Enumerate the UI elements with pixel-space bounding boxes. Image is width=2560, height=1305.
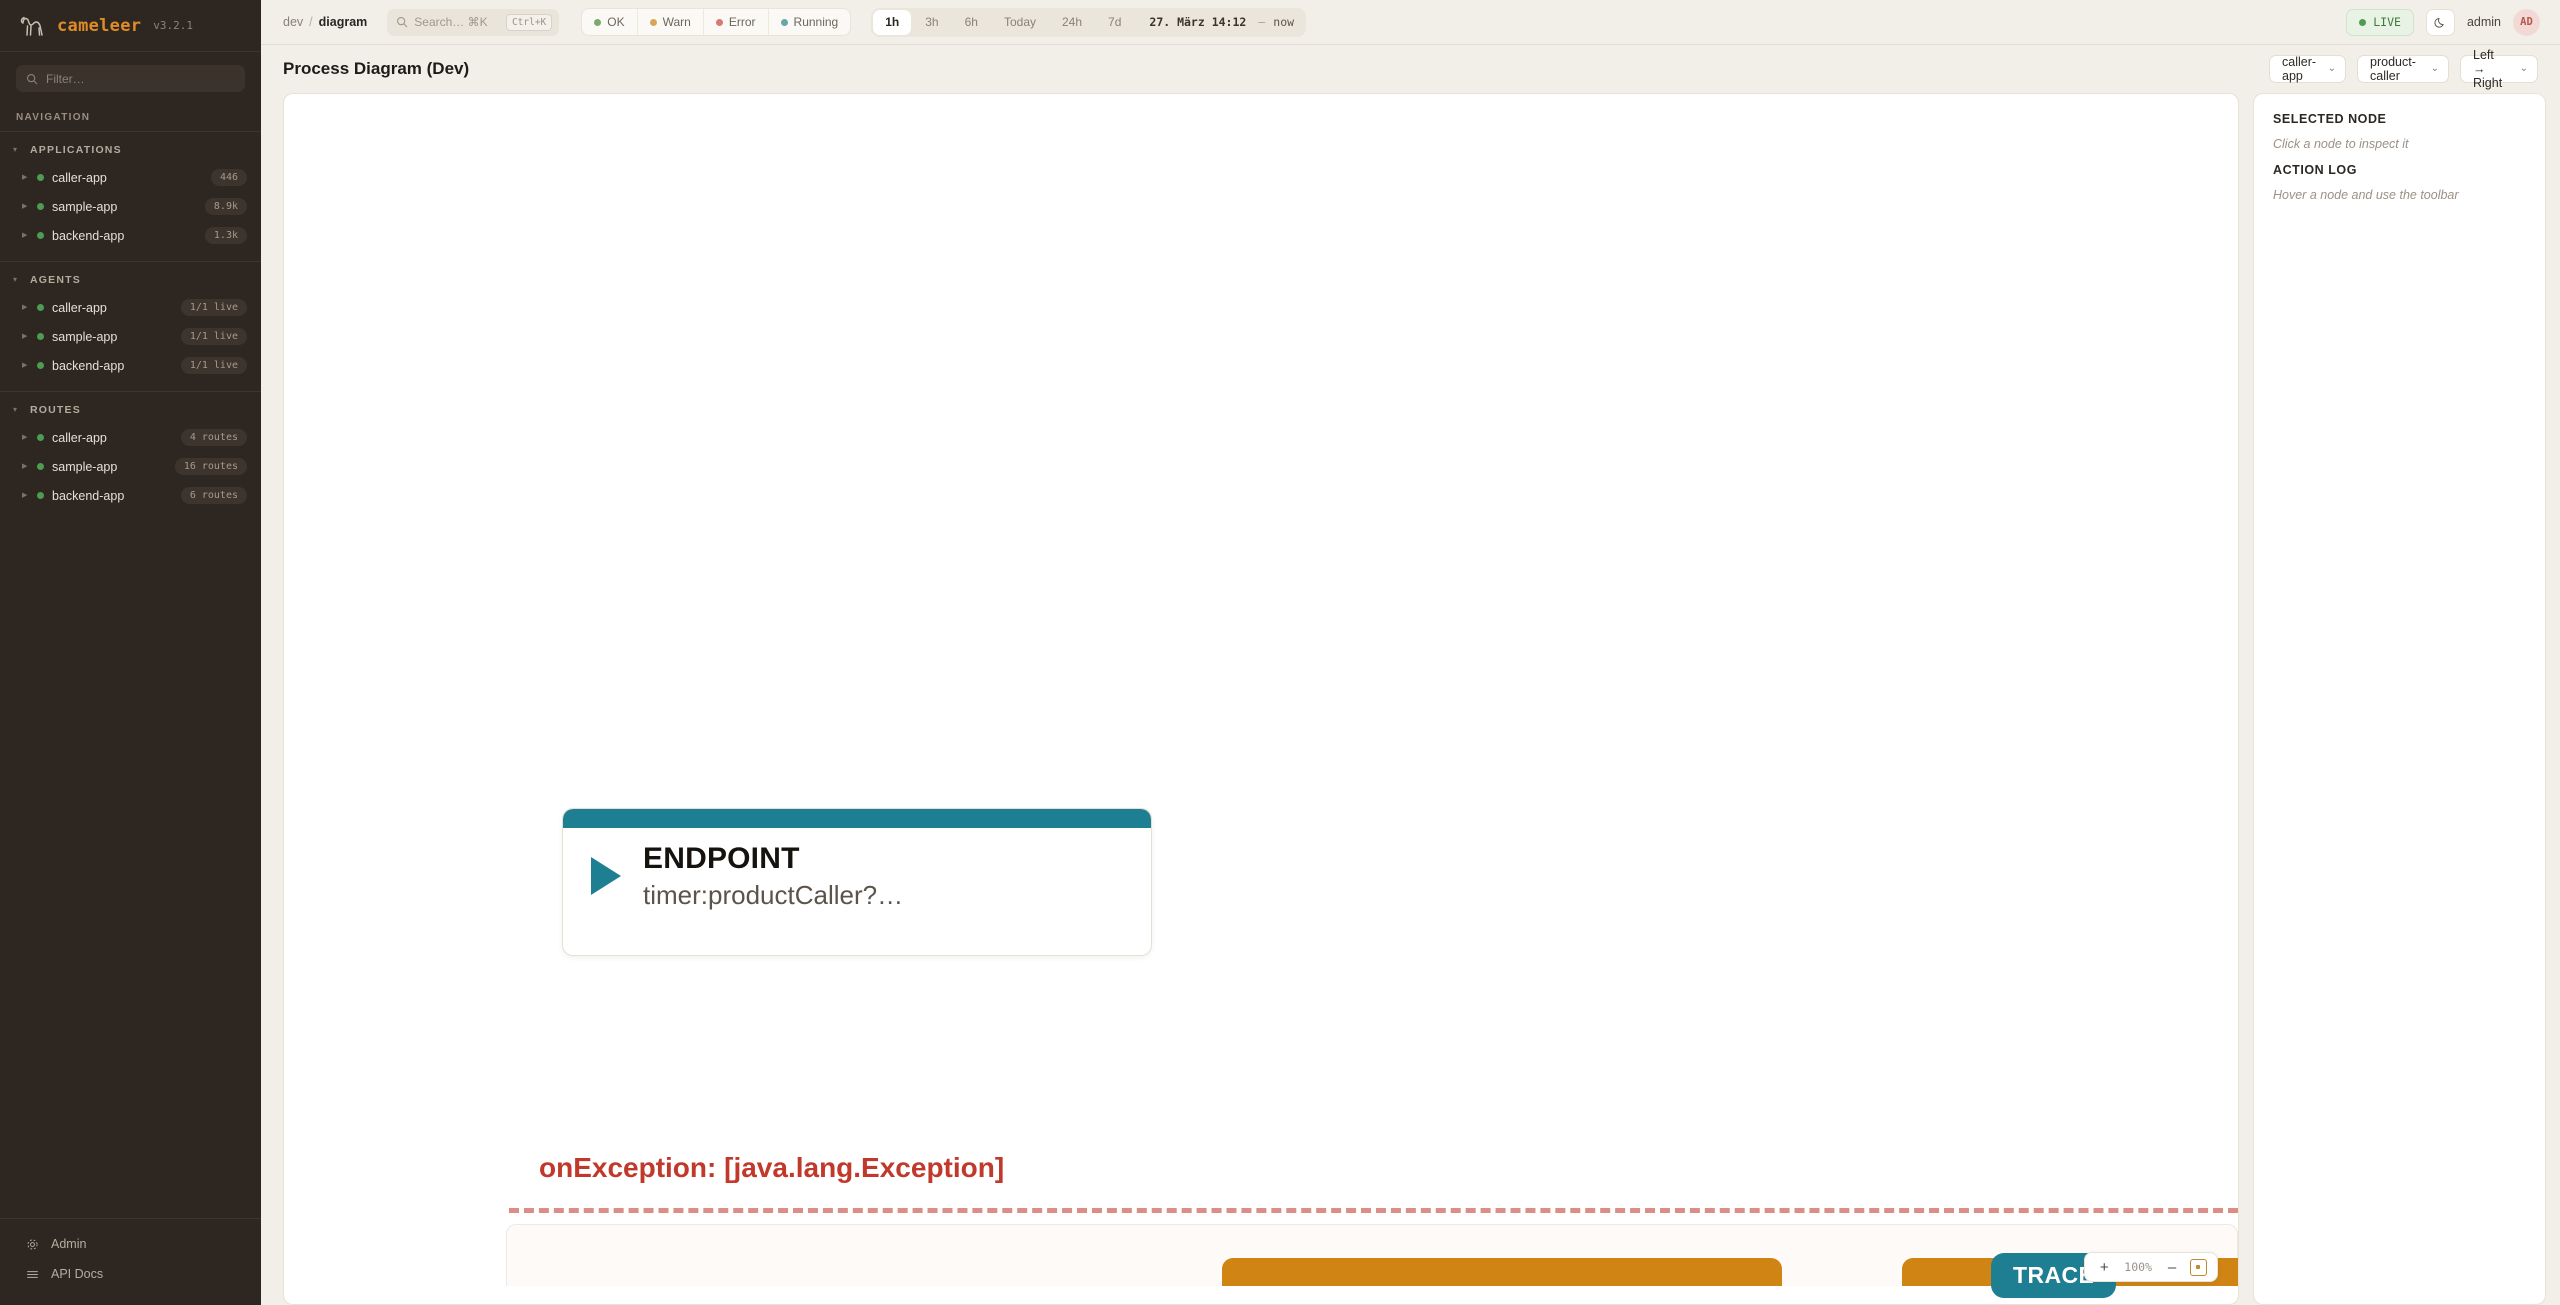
brand-version: v3.2.1 — [153, 19, 193, 32]
filter-section — [0, 52, 261, 102]
status-filter-label: Running — [794, 15, 839, 29]
sidebar-item-label: backend-app — [52, 229, 197, 243]
sidebar: cameleer v3.2.1 NAVIGATION ▾ APPLICATION… — [0, 0, 261, 1305]
gear-icon — [26, 1238, 39, 1251]
status-dot — [37, 463, 44, 470]
status-dot — [37, 174, 44, 181]
sidebar-footer-api-docs[interactable]: API Docs — [0, 1259, 261, 1289]
status-filter-warn[interactable]: Warn — [638, 9, 704, 35]
theme-toggle-button[interactable] — [2426, 9, 2455, 36]
chevron-right-icon: ▶ — [22, 333, 29, 340]
action-log-title: ACTION LOG — [2273, 163, 2526, 177]
breadcrumb-current: diagram — [319, 15, 368, 29]
status-dot — [781, 19, 788, 26]
sidebar-footer-label: API Docs — [51, 1267, 103, 1281]
fit-view-icon — [2190, 1259, 2207, 1276]
diagram-node-endpoint[interactable]: ENDPOINT timer:productCaller?… — [562, 808, 1152, 956]
group-label: AGENTS — [30, 274, 81, 286]
content-area: ENDPOINT timer:productCaller?… onExcepti… — [261, 93, 2560, 1305]
sidebar-item-label: sample-app — [52, 460, 167, 474]
chevron-right-icon: ▶ — [22, 492, 29, 499]
selected-node-hint: Click a node to inspect it — [2273, 137, 2526, 151]
zoom-level-label: 100% — [2117, 1260, 2159, 1274]
chevron-down-icon: ⌄ — [2520, 64, 2528, 74]
route-select-value: product-caller — [2370, 55, 2421, 83]
status-filter-label: OK — [607, 15, 624, 29]
chevron-right-icon: ▶ — [22, 304, 29, 311]
node-text: ENDPOINT timer:productCaller?… — [643, 842, 903, 911]
time-range-to[interactable]: now — [1273, 15, 1304, 29]
zoom-in-button[interactable]: + — [2091, 1254, 2117, 1280]
moon-icon — [2434, 16, 2447, 29]
live-label: LIVE — [2373, 15, 2401, 29]
sidebar-item-applications-caller-app[interactable]: ▶ caller-app 446 — [0, 163, 261, 192]
exception-label: onException: [java.lang.Exception] — [539, 1152, 1004, 1184]
nav-group-agents: ▾ AGENTS ▶ caller-app 1/1 live ▶ sample-… — [0, 261, 261, 391]
app-root: cameleer v3.2.1 NAVIGATION ▾ APPLICATION… — [0, 0, 2560, 1305]
time-range-6h[interactable]: 6h — [953, 10, 990, 35]
chevron-right-icon: ▶ — [22, 434, 29, 441]
topbar: dev / diagram Search… ⌘K Ctrl+K OK Warn — [261, 0, 2560, 45]
node-uri-label: timer:productCaller?… — [643, 880, 903, 911]
status-filter-label: Error — [729, 15, 756, 29]
status-dot — [37, 362, 44, 369]
sidebar-item-agents-caller-app[interactable]: ▶ caller-app 1/1 live — [0, 293, 261, 322]
sidebar-item-badge: 6 routes — [181, 487, 247, 504]
chevron-right-icon: ▶ — [22, 362, 29, 369]
search-icon — [396, 16, 408, 28]
search-icon — [26, 73, 38, 85]
sidebar-item-label: backend-app — [52, 489, 173, 503]
status-dot — [2359, 19, 2366, 26]
time-range-24h[interactable]: 24h — [1050, 10, 1094, 35]
sidebar-item-label: backend-app — [52, 359, 173, 373]
nav-group-applications: ▾ APPLICATIONS ▶ caller-app 446 ▶ sample… — [0, 131, 261, 261]
status-dot — [37, 304, 44, 311]
group-header-applications[interactable]: ▾ APPLICATIONS — [0, 141, 261, 163]
sidebar-item-routes-sample-app[interactable]: ▶ sample-app 16 routes — [0, 452, 261, 481]
time-range-dash: — — [1252, 15, 1271, 29]
chevron-down-icon: ⌄ — [2328, 64, 2336, 74]
brand[interactable]: cameleer v3.2.1 — [0, 0, 261, 52]
time-range-group: 1h 3h 6h Today 24h 7d 27. März 14:12 — n… — [871, 8, 1306, 37]
search-shortcut-badge: Ctrl+K — [506, 14, 552, 31]
status-filter-group: OK Warn Error Running — [581, 8, 851, 36]
sidebar-item-label: sample-app — [52, 330, 173, 344]
node-header-bar — [563, 809, 1151, 828]
sidebar-footer-label: Admin — [51, 1237, 86, 1251]
status-dot — [37, 232, 44, 239]
chevron-down-icon: ⌄ — [2431, 64, 2439, 74]
sidebar-footer-admin[interactable]: Admin — [0, 1229, 261, 1259]
sidebar-item-label: caller-app — [52, 431, 173, 445]
diagram-canvas[interactable]: ENDPOINT timer:productCaller?… onExcepti… — [283, 93, 2239, 1305]
sidebar-item-agents-sample-app[interactable]: ▶ sample-app 1/1 live — [0, 322, 261, 351]
node-kind-label: ENDPOINT — [643, 842, 903, 877]
status-filter-running[interactable]: Running — [769, 9, 851, 35]
search-input[interactable]: Search… ⌘K Ctrl+K — [387, 9, 559, 36]
time-range-today[interactable]: Today — [992, 10, 1048, 35]
avatar[interactable]: AD — [2513, 9, 2540, 36]
zoom-controls: + 100% – — [2084, 1252, 2218, 1282]
direction-select-value: Left → Right — [2473, 48, 2510, 90]
application-select[interactable]: caller-app ⌄ — [2269, 55, 2346, 83]
sidebar-item-badge: 16 routes — [175, 458, 247, 475]
status-dot — [650, 19, 657, 26]
exception-divider — [509, 1208, 2238, 1213]
status-dot — [37, 333, 44, 340]
page-title: Process Diagram (Dev) — [283, 59, 469, 79]
time-range-7d[interactable]: 7d — [1096, 10, 1133, 35]
sidebar-item-badge: 1/1 live — [181, 357, 247, 374]
sidebar-item-badge: 1/1 live — [181, 328, 247, 345]
list-icon — [26, 1268, 39, 1281]
status-dot — [37, 434, 44, 441]
sidebar-spacer — [0, 521, 261, 1218]
sidebar-item-routes-caller-app[interactable]: ▶ caller-app 4 routes — [0, 423, 261, 452]
main-area: dev / diagram Search… ⌘K Ctrl+K OK Warn — [261, 0, 2560, 1305]
group-header-agents[interactable]: ▾ AGENTS — [0, 271, 261, 293]
brand-name: cameleer — [57, 16, 141, 36]
topbar-right: LIVE admin AD — [2346, 9, 2540, 36]
sidebar-item-badge: 446 — [211, 169, 247, 186]
fit-view-button[interactable] — [2185, 1254, 2211, 1280]
route-select[interactable]: product-caller ⌄ — [2357, 55, 2449, 83]
search-placeholder: Search… ⌘K — [414, 15, 500, 29]
group-label: ROUTES — [30, 404, 81, 416]
zoom-out-button[interactable]: – — [2159, 1254, 2185, 1280]
status-filter-label: Warn — [663, 15, 691, 29]
node-body: ENDPOINT timer:productCaller?… — [563, 828, 1151, 911]
sidebar-item-label: sample-app — [52, 200, 197, 214]
camel-icon — [20, 14, 46, 38]
group-header-routes[interactable]: ▾ ROUTES — [0, 401, 261, 423]
direction-select[interactable]: Left → Right ⌄ — [2460, 55, 2538, 83]
diagram-node-orange-left[interactable] — [1222, 1258, 1782, 1286]
action-log-hint: Hover a node and use the toolbar — [2273, 188, 2526, 202]
chevron-right-icon: ▶ — [22, 174, 29, 181]
inspector-panel: SELECTED NODE Click a node to inspect it… — [2253, 93, 2546, 1305]
user-name: admin — [2467, 15, 2501, 29]
sidebar-item-routes-backend-app[interactable]: ▶ backend-app 6 routes — [0, 481, 261, 510]
sidebar-item-applications-backend-app[interactable]: ▶ backend-app 1.3k — [0, 221, 261, 250]
nav-heading: NAVIGATION — [0, 102, 261, 131]
sidebar-item-label: caller-app — [52, 301, 173, 315]
time-range-1h[interactable]: 1h — [873, 10, 911, 35]
sidebar-footer: Admin API Docs — [0, 1218, 261, 1305]
status-dot — [716, 19, 723, 26]
status-dot — [37, 492, 44, 499]
time-range-3h[interactable]: 3h — [913, 10, 950, 35]
play-icon — [591, 857, 621, 895]
page-toolbar: Process Diagram (Dev) caller-app ⌄ produ… — [261, 45, 2560, 93]
filter-box[interactable] — [16, 65, 245, 92]
nav-group-routes: ▾ ROUTES ▶ caller-app 4 routes ▶ sample-… — [0, 391, 261, 521]
chevron-down-icon: ▾ — [13, 276, 21, 284]
breadcrumb-separator: / — [309, 15, 312, 29]
status-filter-error[interactable]: Error — [704, 9, 769, 35]
page-toolbar-controls: caller-app ⌄ product-caller ⌄ Left → Rig… — [2269, 55, 2538, 83]
chevron-right-icon: ▶ — [22, 232, 29, 239]
live-badge[interactable]: LIVE — [2346, 9, 2414, 36]
sidebar-item-badge: 8.9k — [205, 198, 247, 215]
sidebar-item-badge: 4 routes — [181, 429, 247, 446]
application-select-value: caller-app — [2282, 55, 2318, 83]
sidebar-item-label: caller-app — [52, 171, 203, 185]
time-range-from[interactable]: 27. März 14:12 — [1135, 15, 1250, 29]
status-dot — [594, 19, 601, 26]
chevron-right-icon: ▶ — [22, 463, 29, 470]
chevron-down-icon: ▾ — [13, 406, 21, 414]
filter-input[interactable] — [46, 72, 235, 86]
chevron-down-icon: ▾ — [13, 146, 21, 154]
group-label: APPLICATIONS — [30, 144, 122, 156]
breadcrumb-root[interactable]: dev — [283, 15, 303, 29]
sidebar-item-badge: 1.3k — [205, 227, 247, 244]
sidebar-item-applications-sample-app[interactable]: ▶ sample-app 8.9k — [0, 192, 261, 221]
status-filter-ok[interactable]: OK — [582, 9, 637, 35]
sidebar-item-agents-backend-app[interactable]: ▶ backend-app 1/1 live — [0, 351, 261, 380]
chevron-right-icon: ▶ — [22, 203, 29, 210]
sidebar-item-badge: 1/1 live — [181, 299, 247, 316]
selected-node-title: SELECTED NODE — [2273, 112, 2526, 126]
status-dot — [37, 203, 44, 210]
exception-zone — [506, 1224, 2238, 1286]
